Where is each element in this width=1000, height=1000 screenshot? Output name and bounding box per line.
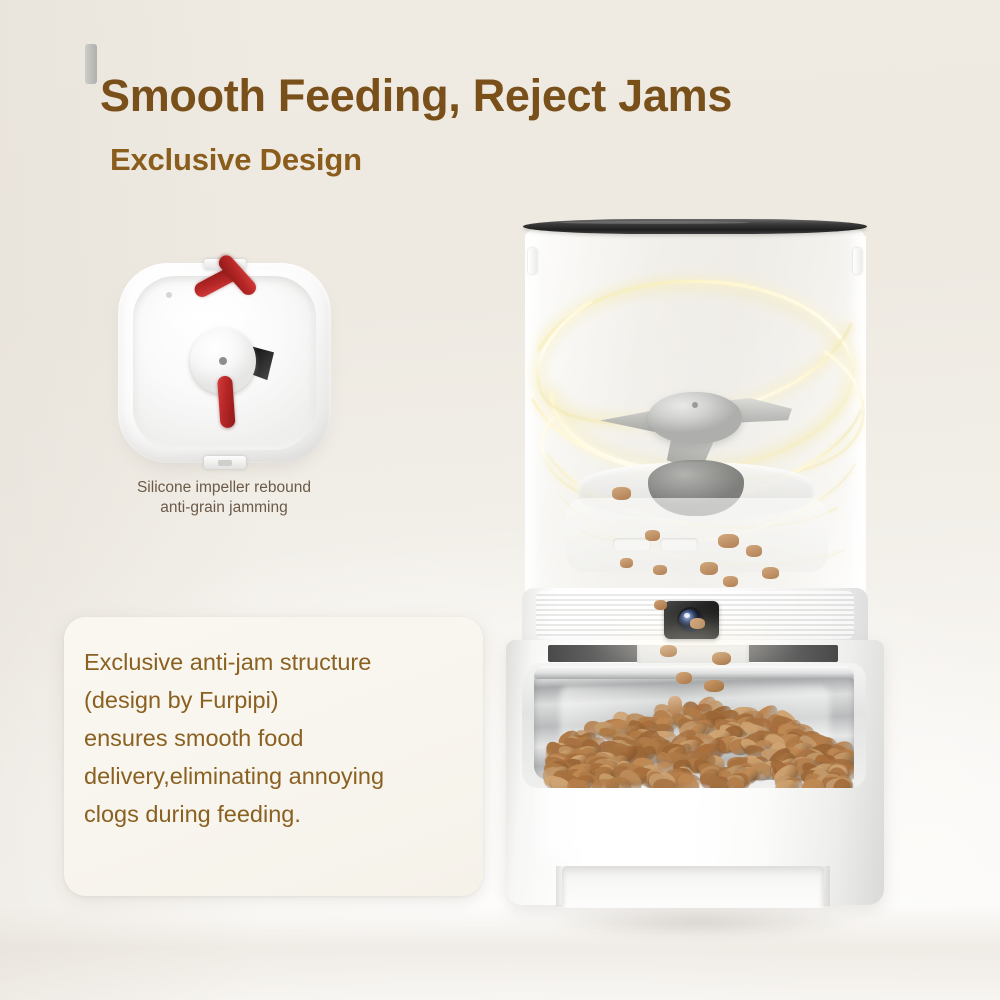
kibble-in-hopper bbox=[700, 562, 718, 575]
impeller-shaft bbox=[85, 44, 97, 84]
leg-right bbox=[820, 866, 830, 906]
tray-slot bbox=[613, 538, 651, 551]
hopper-clip-right[interactable] bbox=[853, 248, 862, 274]
product-marketing-canvas: Smooth Feeding, Reject Jams Exclusive De… bbox=[0, 0, 1000, 1000]
kibble-in-hopper bbox=[746, 545, 762, 557]
hopper-lid-highlight bbox=[560, 221, 750, 224]
ambient-glow bbox=[585, 612, 805, 672]
base-notch bbox=[562, 866, 824, 908]
kibble-in-hopper bbox=[620, 558, 633, 568]
kibble-in-hopper bbox=[723, 576, 738, 587]
falling-kibble bbox=[704, 680, 724, 692]
falling-kibble bbox=[676, 672, 692, 684]
impeller-nub bbox=[692, 402, 698, 408]
hopper-impeller bbox=[600, 392, 790, 462]
kibble-pile bbox=[534, 660, 854, 788]
kibble-in-hopper bbox=[653, 565, 667, 575]
impeller-body bbox=[648, 392, 742, 444]
kibble-in-hopper bbox=[612, 487, 631, 500]
kibble-in-hopper bbox=[645, 530, 660, 541]
leg-left bbox=[556, 866, 566, 906]
falling-kibble bbox=[668, 696, 682, 714]
falling-kibble bbox=[654, 600, 667, 610]
hopper-clip-left[interactable] bbox=[528, 248, 537, 274]
pet-feeder-device bbox=[0, 0, 1000, 1000]
kibble-in-hopper bbox=[762, 567, 779, 579]
kibble-in-hopper bbox=[718, 534, 739, 548]
tray-slot bbox=[660, 538, 698, 551]
inner-tray-lower bbox=[566, 498, 828, 572]
